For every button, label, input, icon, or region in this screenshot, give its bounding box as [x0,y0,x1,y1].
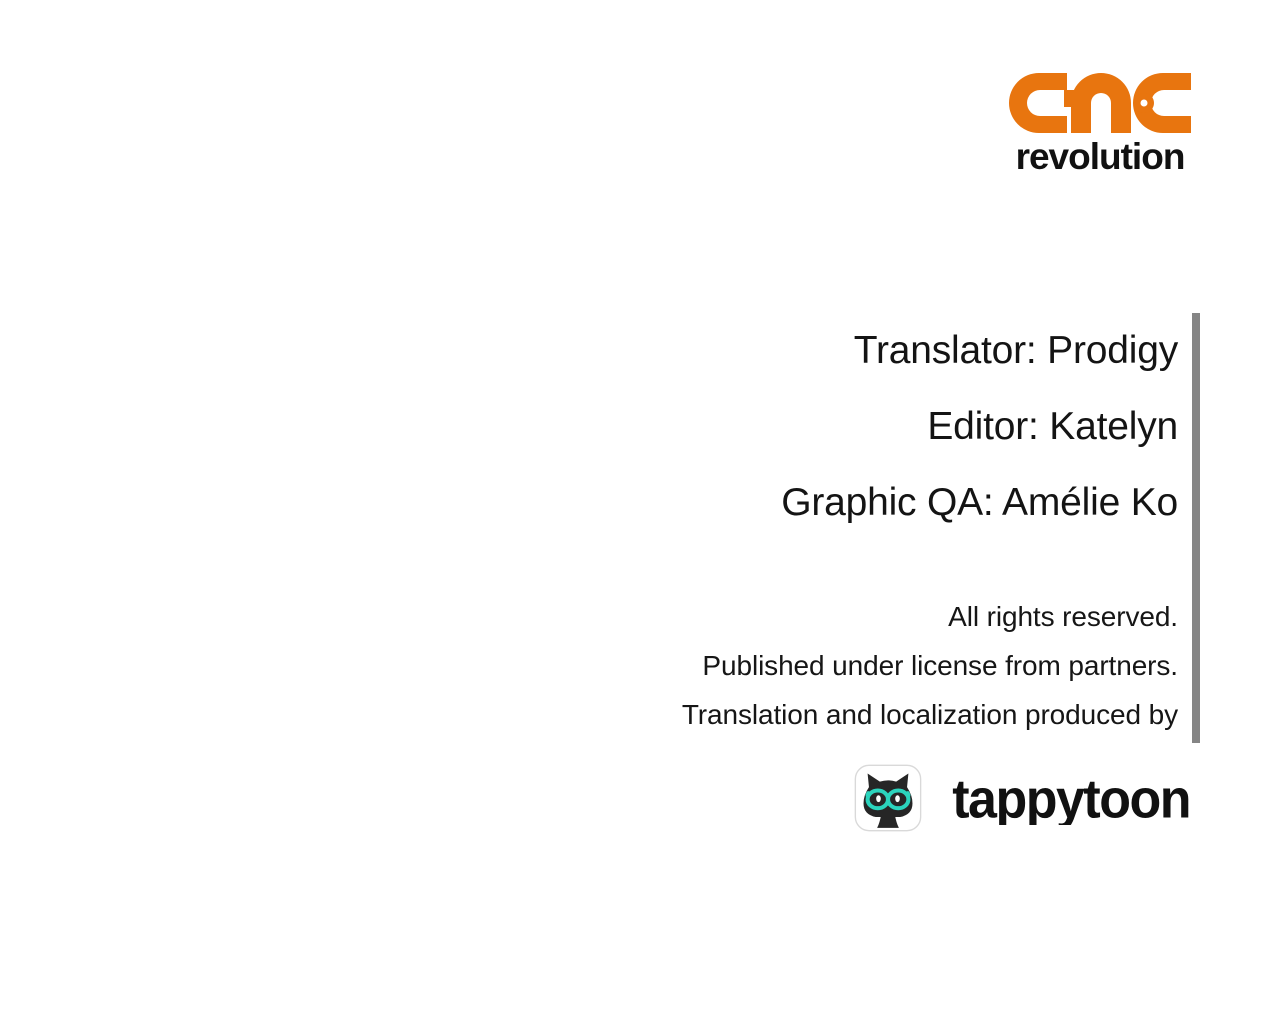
credit-line-editor: Editor: Katelyn [478,389,1178,465]
credits-page: { "page": { "background_color": "#ffffff… [0,0,1280,1030]
publisher-wordmark-text: revolution [1016,136,1185,177]
credits-block: Translator: Prodigy Editor: Katelyn Grap… [478,313,1178,541]
platform-wordmark-text: tappytoon [952,771,1190,825]
vertical-rule [1192,313,1200,743]
legal-line-translation: Translation and localization produced by [318,690,1178,739]
credit-line-graphic-qa: Graphic QA: Amélie Ko [478,465,1178,541]
credit-line-translator: Translator: Prodigy [478,313,1178,389]
legal-line-license: Published under license from partners. [318,641,1178,690]
tappytoon-wordmark: tappytoon [940,771,1190,825]
cnc-mark-icon [1008,72,1192,134]
legal-block: All rights reserved. Published under lic… [318,592,1178,739]
publisher-logo: revolution [1008,72,1192,180]
cnc-wordmark: revolution [1008,136,1192,178]
legal-line-rights: All rights reserved. [318,592,1178,641]
tappytoon-cat-icon [854,763,922,833]
platform-logo: tappytoon [854,760,1190,836]
